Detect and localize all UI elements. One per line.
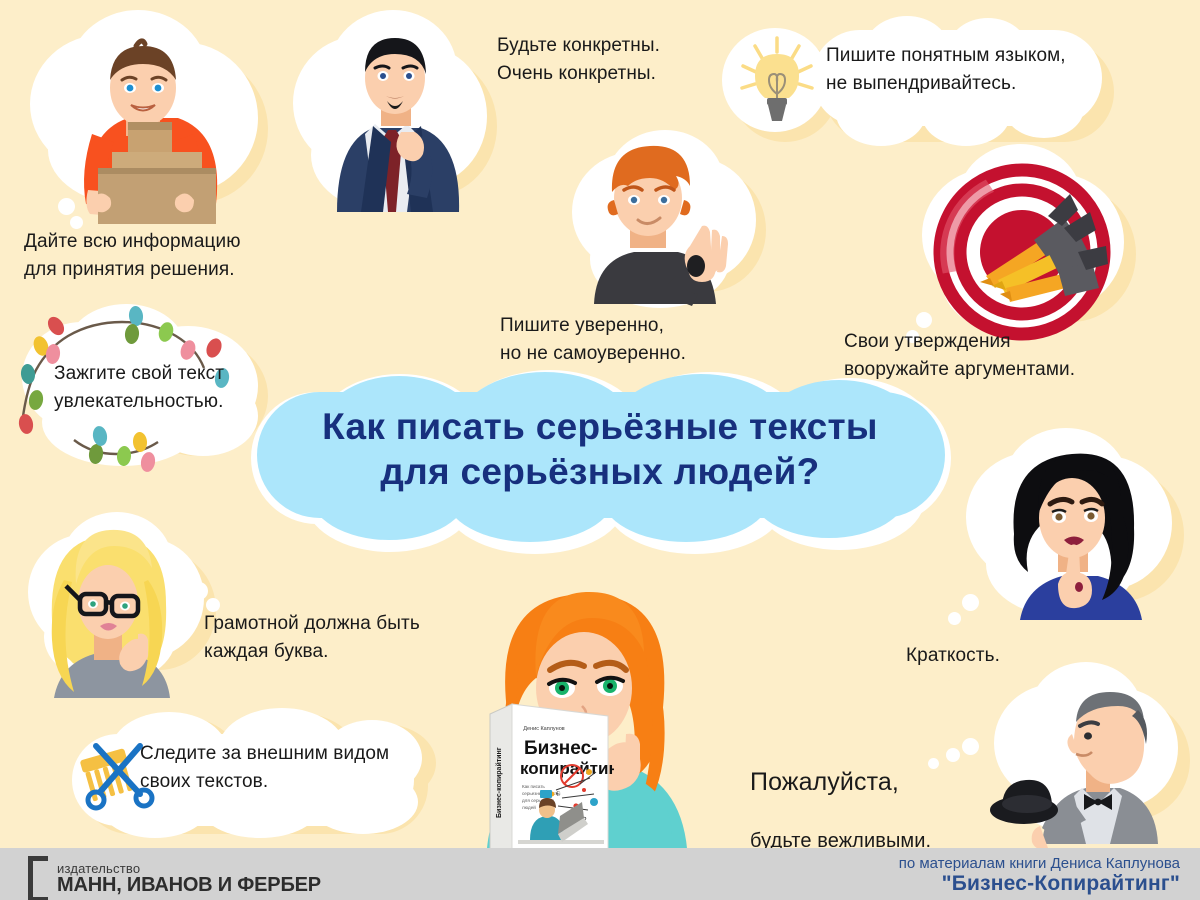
bubble-plain-language: Пишите понятным языком, не выпендривайте… xyxy=(716,16,1116,140)
bubble-dartboard xyxy=(898,140,1148,360)
svg-text:людей: людей xyxy=(522,804,536,810)
page-title: Как писать серьёзные тексты для серьёзны… xyxy=(255,404,945,494)
book-title-line1: Бизнес- xyxy=(524,738,597,759)
book-credit: по материалам книги Дениса Каплунова "Би… xyxy=(899,855,1180,896)
tip-be-polite-text: Пожалуйста, будьте вежливыми. xyxy=(750,736,1010,856)
bubble-man-with-box xyxy=(8,4,278,234)
bubble-trail-dot xyxy=(962,594,979,611)
tip-watch-appearance-text: Следите за внешним видом своих текстов. xyxy=(140,740,440,795)
man-holding-box-illustration xyxy=(8,4,278,234)
bubble-woman-shh xyxy=(946,424,1196,646)
lightbulb-icon xyxy=(722,26,832,136)
bubble-trail-dot xyxy=(916,312,932,328)
redhead-man-ok-gesture-illustration xyxy=(556,126,776,326)
infographic-poster: Дайте всю информацию для принятия решени… xyxy=(0,0,1200,900)
svg-text:Как писать: Как писать xyxy=(522,784,545,789)
dartboard-with-darts-illustration xyxy=(898,140,1148,360)
publisher-logo: издательство МАНН, ИВАНОВ И ФЕРБЕР xyxy=(28,856,321,900)
tip-full-information-text: Дайте всю информацию для принятия решени… xyxy=(24,228,304,283)
businessman-adjusting-tie-illustration xyxy=(275,6,505,236)
bubble-watch-appearance: Следите за внешним видом своих текстов. xyxy=(60,710,440,840)
publisher-name: МАНН, ИВАНОВ И ФЕРБЕР xyxy=(57,875,321,896)
svg-text:€: € xyxy=(556,790,560,798)
bubble-trail-dot xyxy=(58,198,75,215)
tip-plain-language-text: Пишите понятным языком, не выпендривайте… xyxy=(826,42,1106,97)
credit-line-1: по материалам книги Дениса Каплунова xyxy=(899,855,1180,872)
tip-be-specific-text: Будьте конкретны. Очень конкретны. xyxy=(497,32,747,87)
book-spine-text: Бизнес-копирайтинг xyxy=(495,747,503,818)
bubble-trail-dot xyxy=(948,612,961,625)
book-author: Денис Каплунов xyxy=(523,726,564,732)
tip-be-polite-line1: Пожалуйста, xyxy=(750,768,899,796)
woman-finger-on-lips-illustration xyxy=(946,424,1196,646)
bubble-redhead-ok xyxy=(556,126,776,326)
footer-bar: издательство МАНН, ИВАНОВ И ФЕРБЕР по ма… xyxy=(0,848,1200,900)
book-title-line2: копирайтинг xyxy=(520,759,614,778)
blonde-woman-glasses-illustration xyxy=(14,510,224,710)
bubble-blonde-woman xyxy=(14,510,224,710)
credit-line-2: "Бизнес-Копирайтинг" xyxy=(899,872,1180,896)
tip-write-confidently-text: Пишите уверенно, но не самоуверенно. xyxy=(500,312,760,367)
bracket-icon xyxy=(28,856,48,900)
bubble-trail-dot xyxy=(190,582,208,600)
bubble-businessman xyxy=(275,6,505,236)
publisher-label: издательство xyxy=(57,862,321,876)
